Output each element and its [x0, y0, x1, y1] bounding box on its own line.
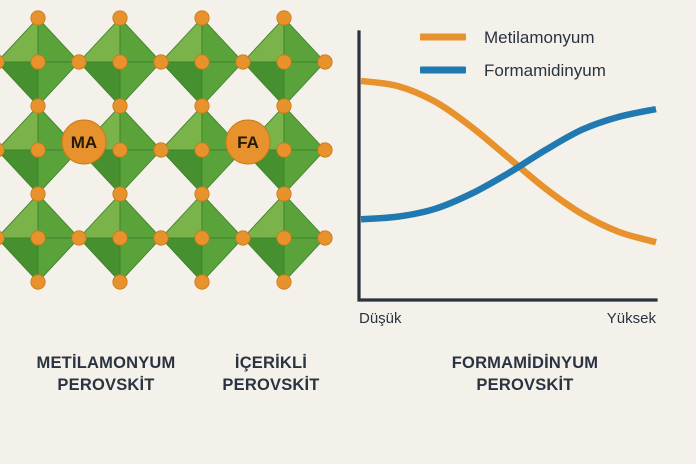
x-axis-tick-label-low: Düşük [359, 310, 402, 327]
line-chart: MetilamonyumFormamidinyum Düşük Yüksek [348, 0, 696, 340]
octahedron-facet [161, 18, 202, 62]
halide-vertex-ion [72, 231, 86, 245]
figure-canvas: MAFA MetilamonyumFormamidinyum Düşük Yük… [0, 0, 696, 464]
halide-vertex-ion [318, 55, 332, 69]
legend-label-formamidinyum: Formamidinyum [484, 61, 606, 80]
halide-vertex-ion [236, 231, 250, 245]
legend-swatch-formamidinyum [420, 67, 466, 74]
halide-vertex-ion [277, 55, 291, 69]
halide-vertex-ion [31, 55, 45, 69]
octahedron-facet [243, 238, 284, 282]
halide-vertex-ion [31, 99, 45, 113]
octahedron-facet [284, 150, 325, 194]
octahedron-facet [38, 238, 79, 282]
octahedron-facet [161, 62, 202, 106]
octahedron-facet [284, 18, 325, 62]
octahedron-facet [284, 62, 325, 106]
octahedron-facet [0, 62, 38, 106]
octahedron-facet [284, 106, 325, 150]
halide-vertex-ion [154, 143, 168, 157]
series-line-formamidinyum [361, 109, 656, 219]
halide-vertex-ion [113, 11, 127, 25]
halide-vertex-ion [195, 11, 209, 25]
halide-vertex-ion [318, 143, 332, 157]
halide-vertex-ion [31, 11, 45, 25]
halide-vertex-ion [277, 275, 291, 289]
halide-vertex-ion [31, 143, 45, 157]
octahedron-facet [161, 106, 202, 150]
octahedron-facet [79, 18, 120, 62]
halide-vertex-ion [195, 187, 209, 201]
octahedron-facet [38, 194, 79, 238]
legend-label-metilamonyum: Metilamonyum [484, 28, 595, 47]
octahedron-facet [243, 18, 284, 62]
halide-vertex-ion [277, 231, 291, 245]
octahedron-facet [0, 194, 38, 238]
halide-vertex-ion [195, 143, 209, 157]
halide-vertex-ion [113, 99, 127, 113]
halide-vertex-ion [113, 55, 127, 69]
octahedron-facet [120, 106, 161, 150]
octahedron-facet [79, 62, 120, 106]
halide-vertex-ion [195, 99, 209, 113]
octahedron-facet [243, 194, 284, 238]
chart-legend: MetilamonyumFormamidinyum [420, 28, 606, 80]
octahedron-facet [120, 18, 161, 62]
halide-vertex-ion [195, 55, 209, 69]
halide-vertex-ion [72, 55, 86, 69]
halide-vertex-ion [31, 187, 45, 201]
octahedron-facet [202, 238, 243, 282]
halide-vertex-ion [277, 143, 291, 157]
perovskite-lattice-panel: MAFA [0, 0, 352, 340]
caption-formamidinium-perovskite: FORMAMİDİNYUM PEROVSKİT [400, 352, 650, 397]
cation-layer: MAFA [62, 120, 270, 164]
caption-mixed-perovskite: İÇERİKLİ PEROVSKİT [196, 352, 346, 397]
chart-series-layer [361, 81, 656, 242]
methylammonium-ion-label: MA [71, 133, 97, 152]
caption-methylammonium-perovskite: METİLAMONYUM PEROVSKİT [6, 352, 206, 397]
octahedron-facet [0, 238, 38, 282]
halide-vertex-ion [31, 231, 45, 245]
lattice-diagram: MAFA [0, 0, 352, 340]
halide-vertex-ion [277, 99, 291, 113]
halide-vertex-ion [113, 143, 127, 157]
halide-vertex-ion [195, 275, 209, 289]
octahedron-facet [202, 194, 243, 238]
octahedron-facet [120, 150, 161, 194]
halide-vertex-ion [277, 187, 291, 201]
x-axis-tick-label-high: Yüksek [607, 310, 657, 327]
octahedron-facet [0, 106, 38, 150]
legend-swatch-metilamonyum [420, 34, 466, 41]
octahedron-facet [0, 150, 38, 194]
octahedron-facet [120, 62, 161, 106]
halide-vertex-ion [236, 55, 250, 69]
octahedron-facet [284, 194, 325, 238]
halide-vertex-ion [113, 231, 127, 245]
octahedron-facet [243, 62, 284, 106]
halide-vertex-ion [154, 231, 168, 245]
octahedron-facet [202, 18, 243, 62]
halide-vertex-ion [113, 187, 127, 201]
halide-vertex-ion [113, 275, 127, 289]
halide-vertex-ion [31, 275, 45, 289]
octahedron-facet [161, 238, 202, 282]
formamidinium-ion-label: FA [237, 133, 259, 152]
halide-vertex-ion [318, 231, 332, 245]
octahedron-facet [79, 238, 120, 282]
halide-vertex-ion [277, 11, 291, 25]
octahedron-facet [0, 18, 38, 62]
octahedron-facet [161, 150, 202, 194]
octahedron-facet [120, 238, 161, 282]
octahedron-facet [38, 18, 79, 62]
trend-chart-panel: MetilamonyumFormamidinyum Düşük Yüksek [348, 0, 696, 340]
octahedron-facet [284, 238, 325, 282]
octahedron-facet [38, 62, 79, 106]
octahedron-facet [120, 194, 161, 238]
octahedron-facet [79, 194, 120, 238]
octahedron-facet [202, 62, 243, 106]
halide-vertex-ion [154, 55, 168, 69]
halide-vertex-ion [195, 231, 209, 245]
octahedron-facet [161, 194, 202, 238]
